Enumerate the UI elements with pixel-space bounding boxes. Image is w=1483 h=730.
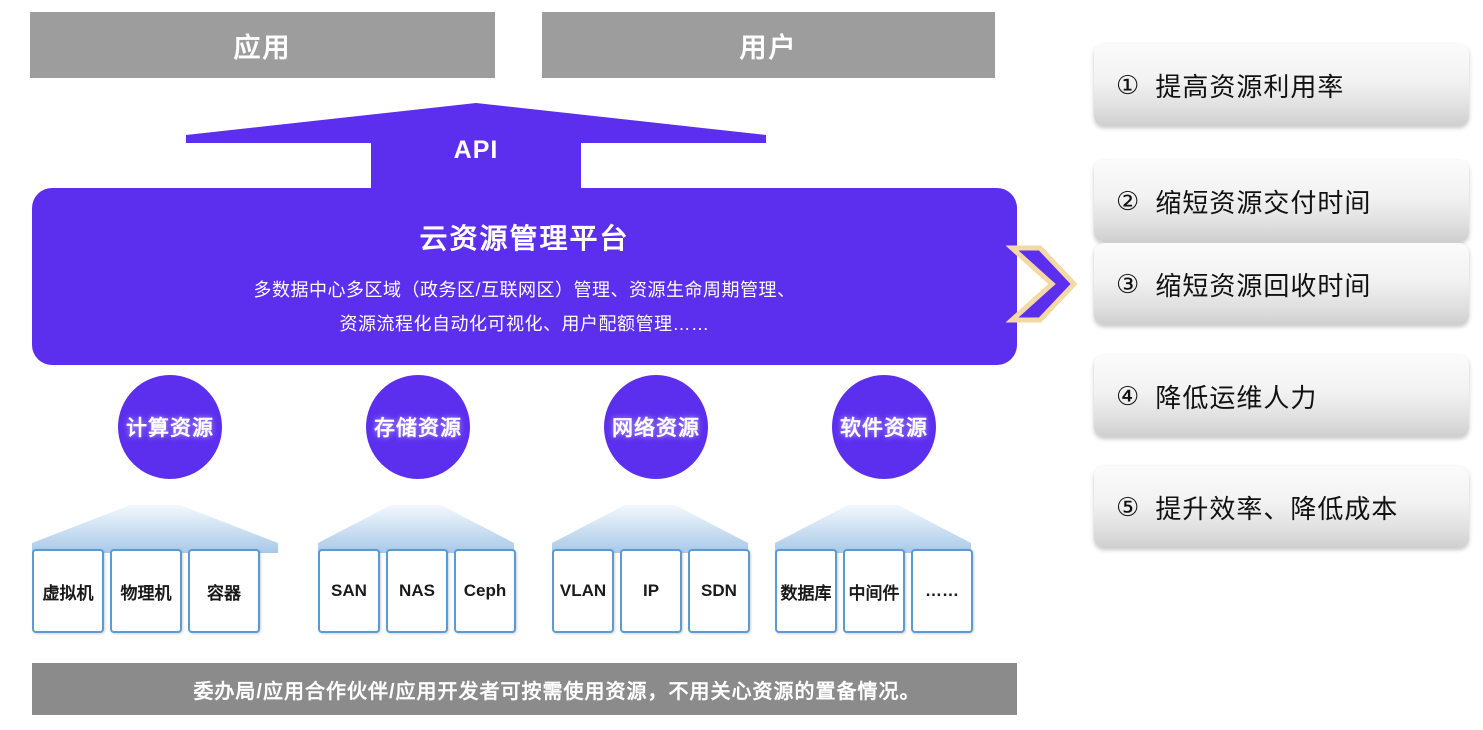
platform-description: 多数据中心多区域（政务区/互联网区）管理、资源生命周期管理、 资源流程化自动化可… [254,273,796,341]
benefit-label: 提升效率、降低成本 [1155,489,1398,526]
leaf-box: SAN [318,549,380,633]
leaf-box: IP [620,549,682,633]
benefit-label: 缩短资源交付时间 [1155,183,1371,220]
benefit-number: ② [1116,188,1139,214]
benefit-number: ⑤ [1116,494,1139,520]
leaf-box-label: …… [925,581,959,601]
leaf-group-storage: SAN NAS Ceph [318,549,516,633]
resource-circle-compute: 计算资源 [118,375,222,479]
consumer-box-user: 用户 [542,12,995,78]
footer-banner [32,663,1017,715]
resource-circle-label: 网络资源 [612,412,700,442]
chevron-right-icon [1006,243,1078,325]
leaf-group-network: VLAN IP SDN [552,549,750,633]
platform-title: 云资源管理平台 [419,217,629,257]
leaf-box: NAS [386,549,448,633]
leaf-box-label: 虚拟机 [43,579,94,604]
leaf-box: Ceph [454,549,516,633]
leaf-box-label: NAS [399,581,435,601]
leaf-box-label: 物理机 [121,579,172,604]
leaf-box-label: 数据库 [781,579,832,604]
leaf-box: SDN [688,549,750,633]
leaf-box: 虚拟机 [32,549,104,633]
leaf-group-software: 数据库 中间件 …… [775,549,973,633]
benefit-number: ④ [1116,383,1139,409]
leaf-box: …… [911,549,973,633]
benefit-number: ① [1116,72,1139,98]
funnel-connector-software [775,505,971,553]
leaf-group-compute: 虚拟机 物理机 容器 [32,549,260,633]
benefit-card-3[interactable]: ③ 缩短资源回收时间 [1094,243,1469,325]
platform-description-line-2: 资源流程化自动化可视化、用户配额管理…… [254,307,796,341]
benefit-card-2[interactable]: ② 缩短资源交付时间 [1094,160,1469,242]
benefit-label: 降低运维人力 [1155,378,1317,415]
benefit-card-5[interactable]: ⑤ 提升效率、降低成本 [1094,466,1469,548]
resource-circle-label: 软件资源 [840,412,928,442]
leaf-box-label: IP [643,581,659,601]
resource-circle-software: 软件资源 [832,375,936,479]
resource-circle-label: 计算资源 [126,412,214,442]
consumer-label: 用户 [740,26,798,65]
leaf-box: 中间件 [843,549,905,633]
resource-circle-storage: 存储资源 [366,375,470,479]
benefit-label: 缩短资源回收时间 [1155,266,1371,303]
leaf-box: VLAN [552,549,614,633]
benefit-card-1[interactable]: ① 提高资源利用率 [1094,44,1469,126]
consumer-label: 应用 [234,26,292,65]
resource-circle-network: 网络资源 [604,375,708,479]
leaf-box: 物理机 [110,549,182,633]
funnel-connector-storage [318,505,514,553]
benefit-card-4[interactable]: ④ 降低运维人力 [1094,355,1469,437]
benefit-number: ③ [1116,271,1139,297]
api-label: API [186,136,766,165]
leaf-box-label: SDN [701,581,737,601]
leaf-box-label: SAN [331,581,367,601]
api-arrow-shape: API [186,103,766,188]
leaf-box-label: 容器 [207,579,241,604]
cloud-platform-panel: 云资源管理平台 多数据中心多区域（政务区/互联网区）管理、资源生命周期管理、 资… [32,188,1017,365]
architecture-diagram: 应用 用户 API 云资源管理平台 多数据中心多区域（政务区/互联网区）管理、资… [0,0,1483,730]
platform-description-line-1: 多数据中心多区域（政务区/互联网区）管理、资源生命周期管理、 [254,273,796,307]
leaf-box: 容器 [188,549,260,633]
benefit-label: 提高资源利用率 [1155,67,1344,104]
leaf-box-label: VLAN [560,581,606,601]
consumer-box-application: 应用 [30,12,495,78]
funnel-connector-network [552,505,748,553]
funnel-connector-compute [32,505,278,553]
leaf-box: 数据库 [775,549,837,633]
leaf-box-label: 中间件 [849,579,900,604]
resource-circle-label: 存储资源 [374,412,462,442]
leaf-box-label: Ceph [464,581,507,601]
